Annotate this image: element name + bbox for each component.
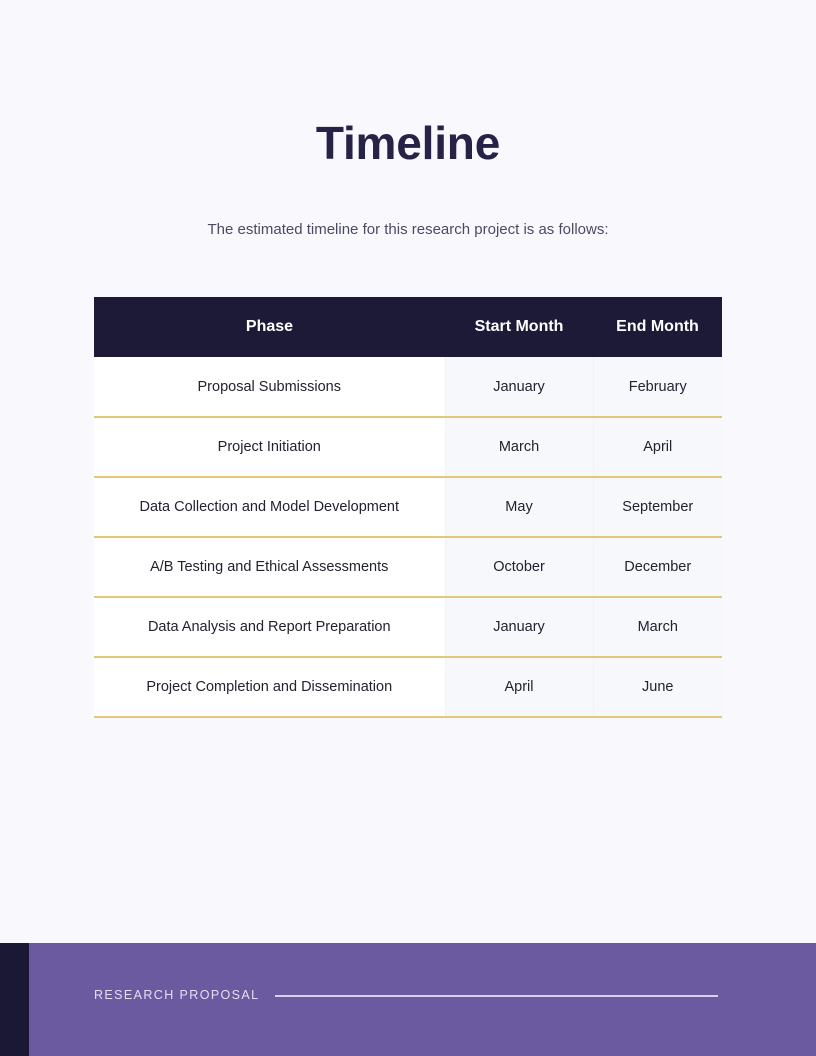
document-page: Timeline The estimated timeline for this…	[0, 0, 816, 1056]
cell-end-month: December	[593, 537, 722, 597]
column-header-start-month: Start Month	[445, 297, 593, 357]
cell-start-month: January	[445, 597, 593, 657]
cell-start-month: October	[445, 537, 593, 597]
cell-end-month: March	[593, 597, 722, 657]
cell-end-month: June	[593, 657, 722, 717]
table-row: Data Collection and Model Development Ma…	[94, 477, 722, 537]
table-body: Proposal Submissions January February Pr…	[94, 357, 722, 717]
footer-label: RESEARCH PROPOSAL	[94, 988, 260, 1002]
cell-phase: A/B Testing and Ethical Assessments	[94, 537, 445, 597]
cell-phase: Data Analysis and Report Preparation	[94, 597, 445, 657]
cell-phase: Data Collection and Model Development	[94, 477, 445, 537]
table-row: Proposal Submissions January February	[94, 357, 722, 417]
column-header-phase: Phase	[94, 297, 445, 357]
column-header-end-month: End Month	[593, 297, 722, 357]
page-title: Timeline	[0, 115, 816, 171]
cell-start-month: January	[445, 357, 593, 417]
table-header: Phase Start Month End Month	[94, 297, 722, 357]
cell-start-month: May	[445, 477, 593, 537]
footer-divider-rule	[275, 995, 718, 997]
cell-phase: Proposal Submissions	[94, 357, 445, 417]
cell-end-month: September	[593, 477, 722, 537]
cell-phase: Project Initiation	[94, 417, 445, 477]
timeline-table: Phase Start Month End Month Proposal Sub…	[94, 297, 722, 718]
table-row: Project Completion and Dissemination Apr…	[94, 657, 722, 717]
cell-end-month: April	[593, 417, 722, 477]
table-header-row: Phase Start Month End Month	[94, 297, 722, 357]
table-row: Data Analysis and Report Preparation Jan…	[94, 597, 722, 657]
footer-accent-stripe	[0, 943, 29, 1056]
table-row: Project Initiation March April	[94, 417, 722, 477]
table-row: A/B Testing and Ethical Assessments Octo…	[94, 537, 722, 597]
cell-start-month: March	[445, 417, 593, 477]
cell-start-month: April	[445, 657, 593, 717]
cell-end-month: February	[593, 357, 722, 417]
cell-phase: Project Completion and Dissemination	[94, 657, 445, 717]
page-subtitle: The estimated timeline for this research…	[0, 218, 816, 242]
